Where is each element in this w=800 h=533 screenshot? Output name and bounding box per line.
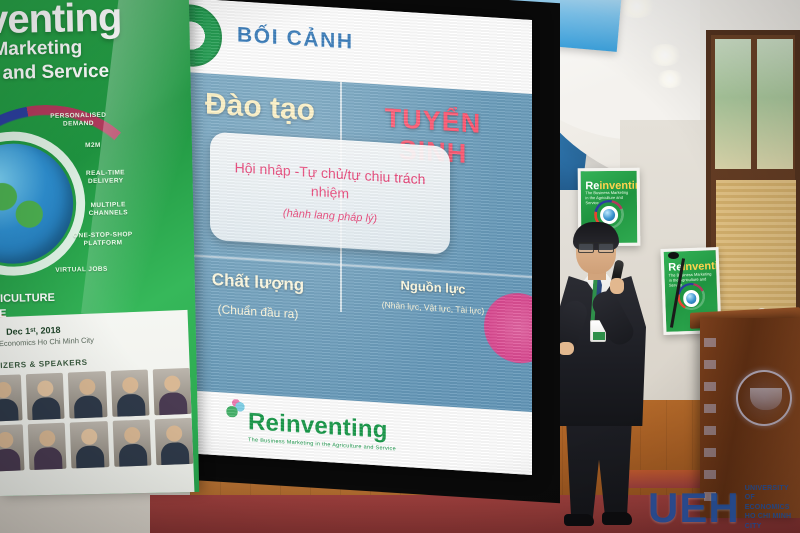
slide-cell-resources-sub: (Nhân lực, Vật lực, Tài lực) — [348, 297, 518, 318]
speaker-person — [548, 222, 668, 522]
window-pane-2 — [757, 39, 793, 169]
poster-speakers-heading: ANIZERS & SPEAKERS — [0, 358, 88, 371]
slide-cell-resources: Nguồn lực (Nhân lực, Vật lực, Tài lực) — [348, 274, 518, 318]
ceiling-downlight-2 — [648, 44, 682, 66]
slide-title: BỐI CẢNH — [237, 23, 354, 54]
projection-screen: BỐI CẢNH Đào tạo TUYỂN SINH Hội nhập -Tự… — [152, 0, 532, 475]
ueh-watermark: UEH UNIVERSITY OF ECONOMICS HO CHI MINH … — [648, 484, 800, 531]
speaker-shoe-left — [564, 514, 594, 526]
ueh-seal-emblem-icon — [736, 370, 792, 426]
slide-cell-resources-title: Nguồn lực — [348, 274, 518, 300]
poster-speaker-headshot — [112, 419, 151, 466]
slide-center-callout: Hội nhập -Tự chủ/tự chịu trách nhiệm (hà… — [210, 132, 450, 255]
left-standee-poster: einventing ness Marketing ulture and Ser… — [0, 0, 199, 496]
ueh-watermark-text: UNIVERSITY OF ECONOMICS HO CHI MINH CITY — [745, 484, 800, 531]
slide-center-sub-text: (hành lang pháp lý) — [283, 207, 377, 225]
speaker-hand-right — [610, 278, 624, 294]
ueh-watermark-line3: HO CHI MINH CITY — [745, 512, 800, 531]
poster-speaker-headshot — [154, 418, 193, 465]
slide-cell-quality-title: Chất lượng — [174, 267, 342, 298]
slide-center-main-text: Hội nhập -Tự chủ/tự chịu trách nhiệm — [210, 157, 450, 210]
ueh-watermark-line1: UNIVERSITY OF — [745, 484, 800, 503]
poster-speaker-panel: Dec 1ˢᵗ, 2018 of Economics Ho Chi Minh C… — [0, 310, 196, 496]
poster-event-date: Dec 1ˢᵗ, 2018 — [6, 325, 61, 337]
reinventing-leaf-icon — [226, 399, 246, 418]
poster-speaker-row — [0, 368, 191, 422]
poster-event-place: of Economics Ho Chi Minh City — [0, 336, 94, 349]
poster-speaker-grid — [0, 368, 194, 476]
poster-speaker-headshot — [153, 368, 192, 415]
poster-speaker-headshot — [70, 421, 109, 468]
slide-cell-quality-sub: (Chuẩn đầu ra) — [174, 299, 342, 324]
ceiling-downlight-3 — [656, 70, 684, 88]
conference-photo-scene: Reinventing The Business Marketing in th… — [0, 0, 800, 533]
poster-speaker-headshot — [0, 424, 25, 471]
speaker-legs — [566, 418, 632, 522]
window-pane-1 — [715, 39, 751, 169]
slide-column-left-title: Đào tạo — [180, 86, 340, 130]
ueh-watermark-line2: ECONOMICS — [745, 503, 800, 512]
poster-speaker-headshot — [68, 371, 107, 418]
slide-cell-quality: Chất lượng (Chuẩn đầu ra) — [174, 267, 342, 324]
poster-speaker-row — [0, 418, 193, 472]
microphone-head-icon — [668, 252, 679, 259]
window-blind — [716, 180, 796, 320]
poster-speaker-headshot — [110, 370, 149, 417]
speaker-hand-left — [558, 342, 574, 355]
poster-speaker-headshot — [0, 374, 23, 421]
slide-body: Đào tạo TUYỂN SINH Hội nhập -Tự chủ/tự c… — [152, 70, 532, 414]
eyeglasses-icon — [578, 242, 614, 250]
slide-footer-brand: Reinventing The Business Marketing in th… — [248, 408, 396, 452]
ueh-watermark-logo: UEH — [648, 488, 740, 528]
poster-speaker-headshot — [28, 423, 67, 470]
poster-speaker-headshot — [26, 373, 65, 420]
speaker-shoe-right — [602, 512, 632, 525]
podium-side-pattern — [704, 338, 716, 508]
